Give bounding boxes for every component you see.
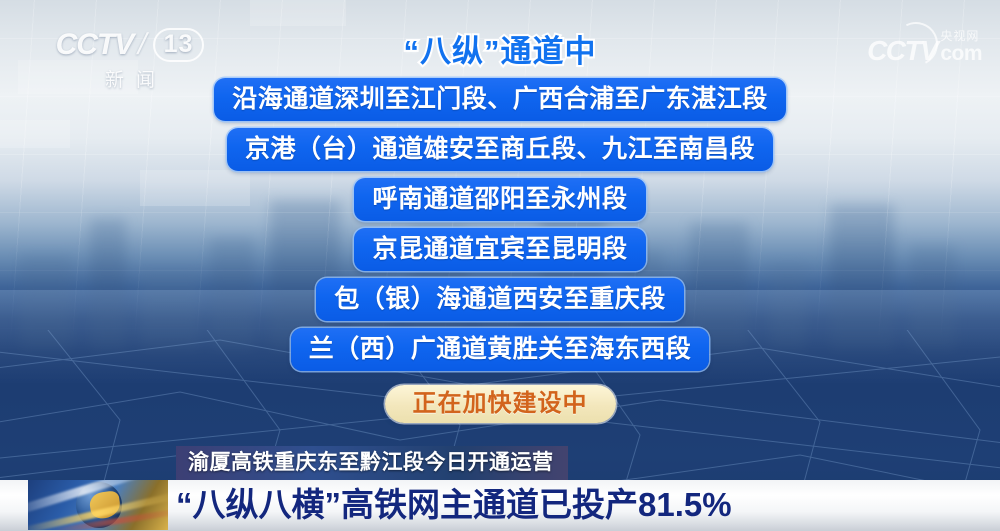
lower-third-headline: “八纵八横”高铁网主通道已投产81.5% <box>176 480 732 529</box>
list-item[interactable]: 包（银）海通道西安至重庆段 <box>316 278 684 321</box>
broadcast-screen: CCTV / 13 新闻 CCTV 央视网 com “八纵”通道中 沿海通道深圳… <box>0 0 1000 531</box>
status-badge: 正在加快建设中 <box>385 385 616 423</box>
background-panel <box>250 0 346 26</box>
lower-third-subtitle: 渝厦高铁重庆东至黔江段今日开通运营 <box>176 446 568 480</box>
page-title: “八纵”通道中 <box>0 26 1000 71</box>
list-item[interactable]: 兰（西）广通道黄胜关至海东西段 <box>291 328 710 371</box>
list-item[interactable]: 沿海通道深圳至江门段、广西合浦至广东湛江段 <box>214 78 786 121</box>
program-globe-logo <box>28 480 168 530</box>
list-item[interactable]: 京港（台）通道雄安至商丘段、九江至南昌段 <box>227 128 773 171</box>
list-item[interactable]: 呼南通道邵阳至永州段 <box>354 178 645 221</box>
list-item[interactable]: 京昆通道宜宾至昆明段 <box>354 228 645 271</box>
corridor-list: 沿海通道深圳至江门段、广西合浦至广东湛江段 京港（台）通道雄安至商丘段、九江至南… <box>0 78 1000 423</box>
